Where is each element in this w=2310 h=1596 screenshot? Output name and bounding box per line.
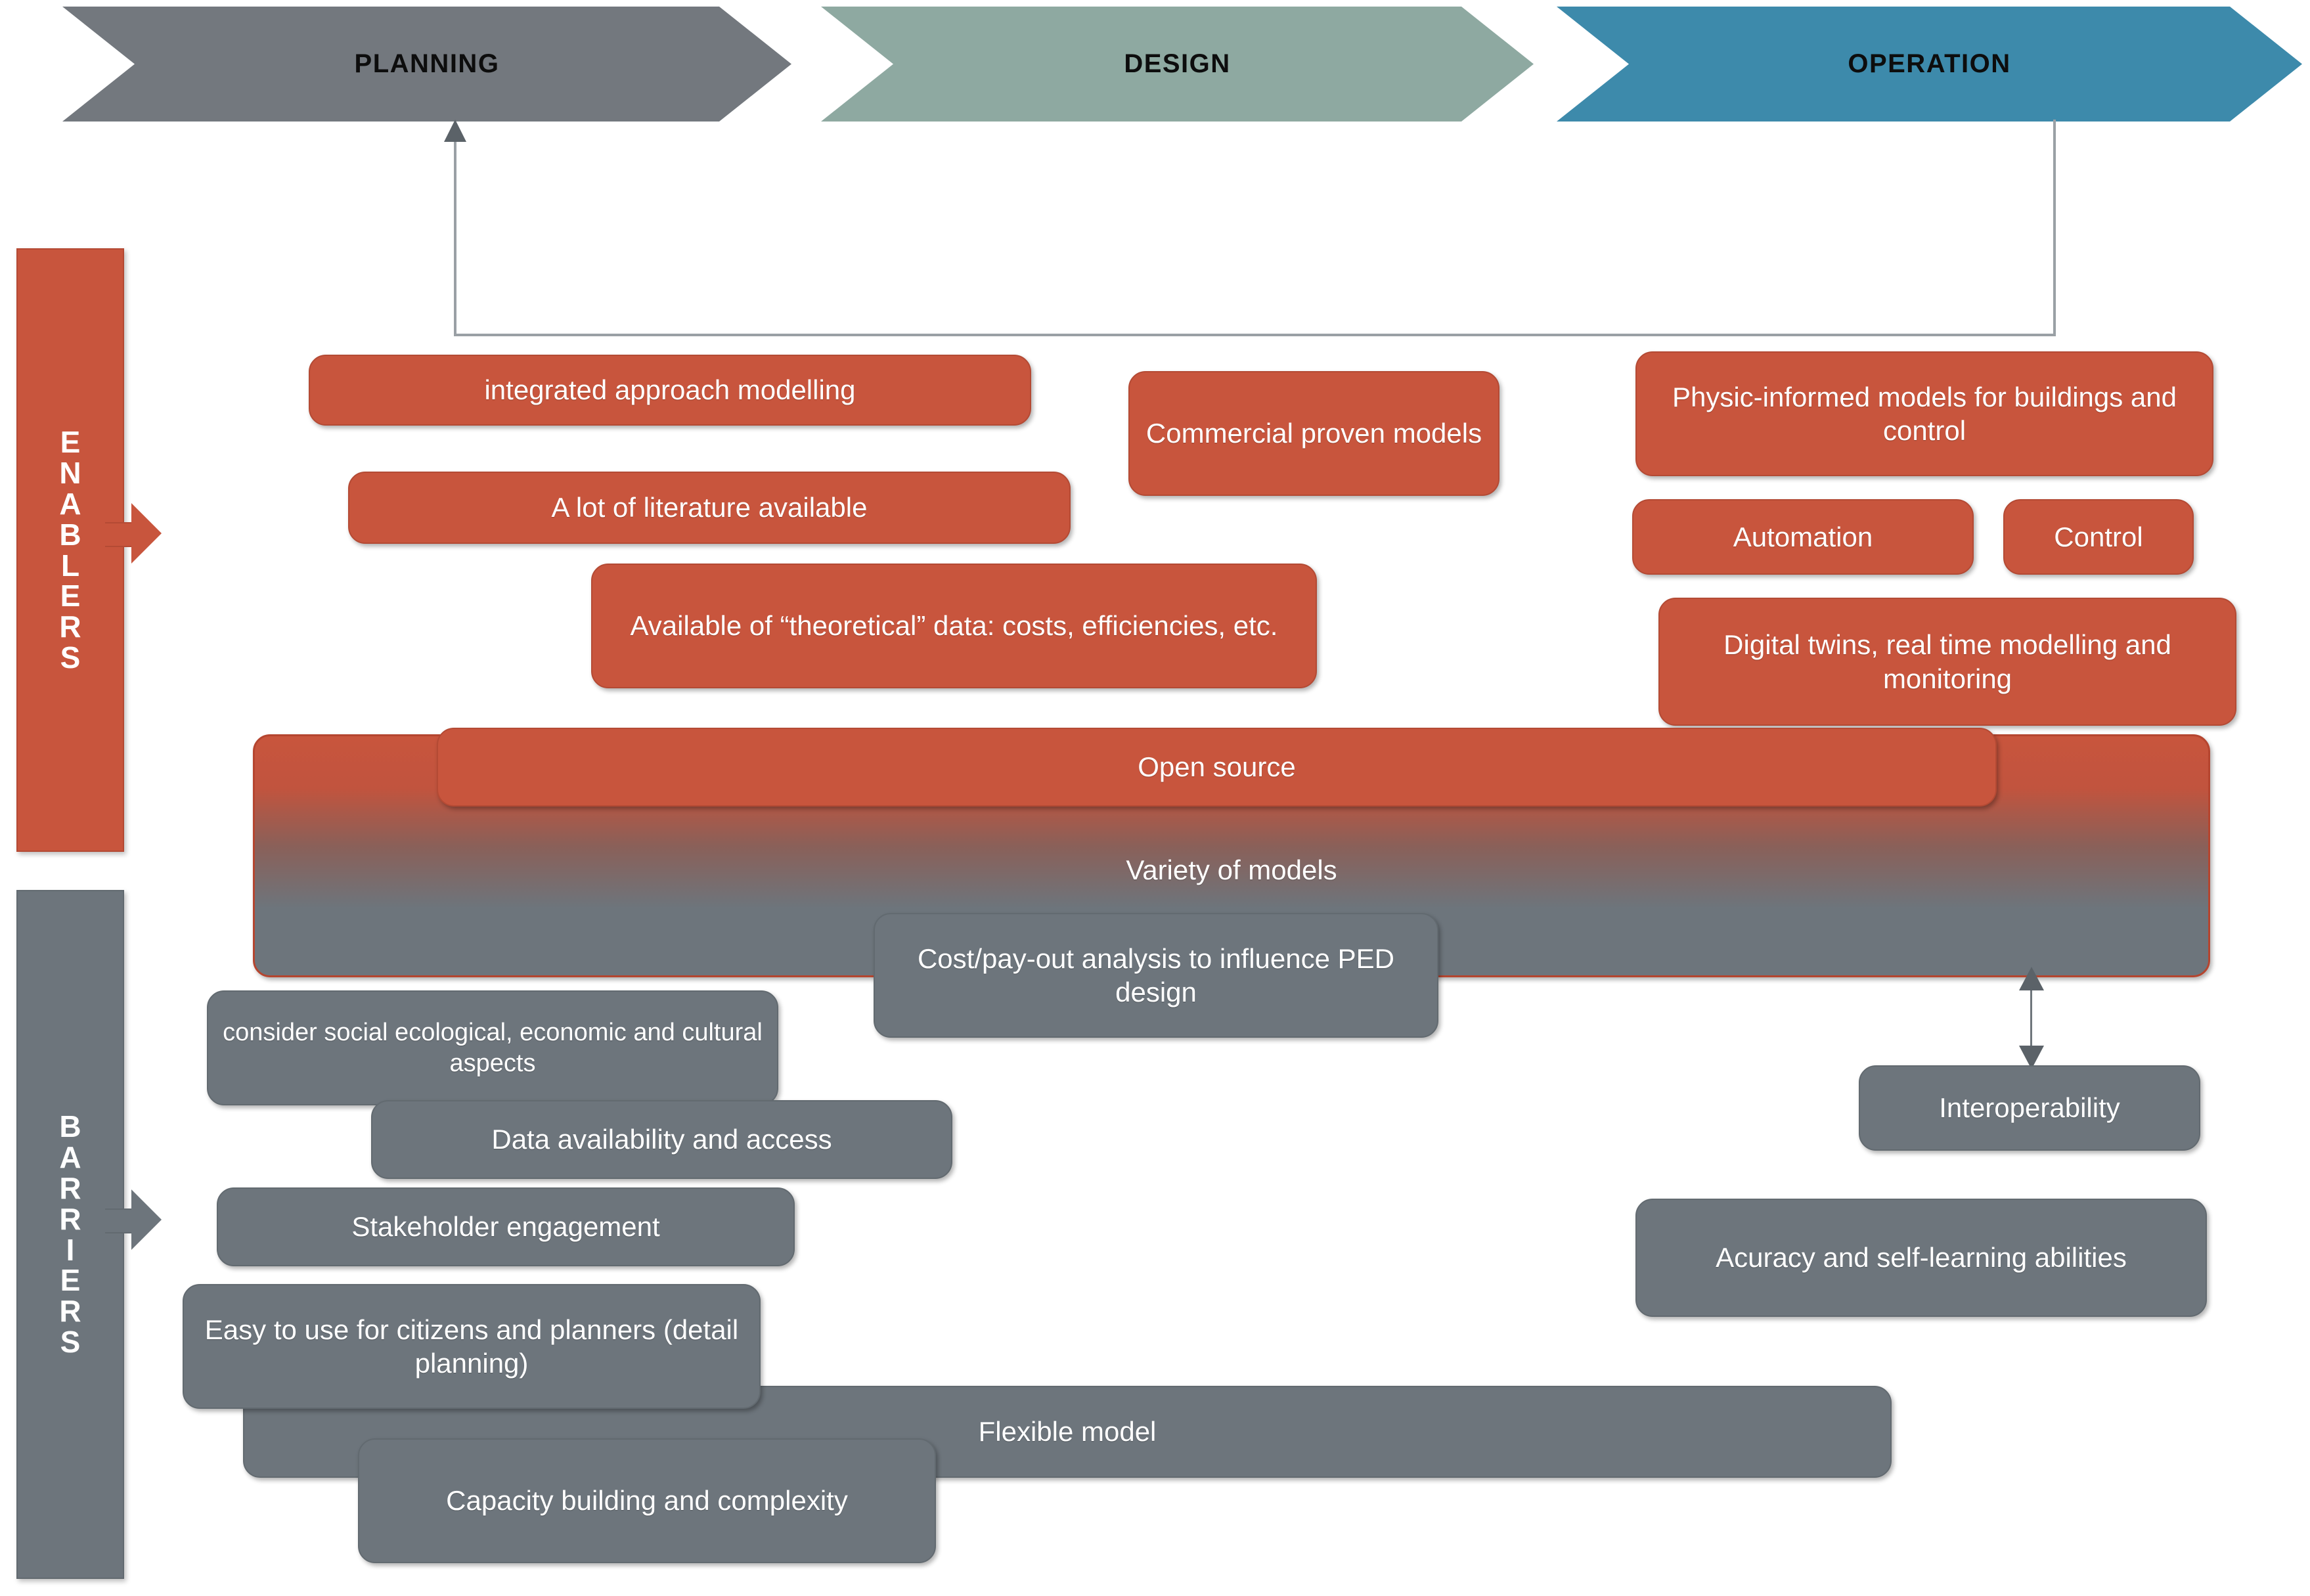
rail-barriers-letter-5: E	[60, 1265, 81, 1296]
enabler-node-automation[interactable]: Automation	[1632, 499, 1974, 575]
variety-interoperability-arrowhead-up-icon	[2019, 967, 2044, 990]
feedback-connector-left-leg	[454, 139, 456, 336]
rail-barriers-letter-7: S	[60, 1327, 81, 1358]
phase-chevron-planning[interactable]: PLANNING	[62, 7, 791, 122]
diagram-canvas: PLANNING DESIGN OPERATION E N A B L E R …	[0, 0, 2310, 1596]
rail-barriers-letter-6: R	[59, 1296, 81, 1327]
rail-enablers-letter-4: L	[61, 550, 79, 581]
rail-enablers-letter-3: B	[59, 520, 81, 550]
barrier-node-interoperability[interactable]: Interoperability	[1859, 1065, 2200, 1151]
barrier-node-easy-to-use[interactable]: Easy to use for citizens and planners (d…	[183, 1284, 761, 1409]
enabler-node-open-source[interactable]: Open source	[437, 728, 1997, 807]
barrier-node-stakeholder-engagement[interactable]: Stakeholder engagement	[217, 1187, 795, 1266]
enabler-node-a-lot-of-literature-available[interactable]: A lot of literature available	[348, 472, 1071, 544]
rail-barriers[interactable]: B A R R I E R S	[16, 890, 124, 1579]
rail-barriers-letter-3: R	[59, 1204, 81, 1235]
barrier-label-acuracy-self-learning: Acuracy and self-learning abilities	[1716, 1241, 2127, 1274]
phase-label-design: DESIGN	[1124, 49, 1230, 79]
rail-barriers-pointer-icon	[105, 1208, 134, 1233]
rail-barriers-letter-4: I	[66, 1235, 75, 1266]
phase-label-operation: OPERATION	[1848, 49, 2010, 79]
enabler-label-a-lot-of-literature-available: A lot of literature available	[552, 491, 868, 524]
rail-enablers-arrowhead-icon	[131, 503, 162, 564]
enabler-label-open-source: Open source	[1138, 750, 1295, 784]
enabler-node-digital-twins[interactable]: Digital twins, real time modelling and m…	[1658, 598, 2236, 726]
enabler-label-integrated-approach-modelling: integrated approach modelling	[484, 373, 855, 407]
barrier-label-consider-social-aspects: consider social ecological, economic and…	[220, 1017, 765, 1078]
shared-label-variety-of-models: Variety of models	[267, 799, 2196, 887]
rail-enablers-letter-0: E	[60, 427, 81, 458]
barrier-label-interoperability: Interoperability	[1939, 1091, 2120, 1124]
enabler-label-automation: Automation	[1733, 520, 1873, 554]
barrier-node-acuracy-self-learning[interactable]: Acuracy and self-learning abilities	[1635, 1199, 2207, 1317]
enabler-label-control: Control	[2054, 520, 2143, 554]
barrier-label-cost-pay-out-analysis: Cost/pay-out analysis to influence PED d…	[887, 942, 1425, 1009]
barrier-node-data-availability[interactable]: Data availability and access	[371, 1100, 952, 1179]
barrier-label-stakeholder-engagement: Stakeholder engagement	[351, 1210, 659, 1243]
rail-enablers-letter-5: E	[60, 581, 81, 611]
barrier-node-cost-pay-out-analysis[interactable]: Cost/pay-out analysis to influence PED d…	[874, 913, 1438, 1038]
rail-enablers-letter-2: A	[59, 489, 81, 520]
rail-barriers-letter-1: A	[59, 1142, 81, 1173]
enabler-label-physic-informed-models: Physic-informed models for buildings and…	[1649, 380, 2200, 447]
enabler-node-control[interactable]: Control	[2003, 499, 2194, 575]
enabler-label-digital-twins: Digital twins, real time modelling and m…	[1672, 628, 2223, 695]
barrier-label-easy-to-use: Easy to use for citizens and planners (d…	[196, 1313, 747, 1380]
barrier-node-capacity-building[interactable]: Capacity building and complexity	[358, 1438, 936, 1563]
barrier-label-capacity-building: Capacity building and complexity	[446, 1484, 848, 1517]
enabler-node-available-theoretical-data[interactable]: Available of “theoretical” data: costs, …	[591, 564, 1317, 688]
rail-enablers-letter-6: R	[59, 611, 81, 642]
rail-enablers-letters: E N A B L E R S	[59, 427, 81, 673]
rail-enablers[interactable]: E N A B L E R S	[16, 248, 124, 852]
barrier-node-consider-social-aspects[interactable]: consider social ecological, economic and…	[207, 990, 778, 1105]
feedback-connector-right-leg	[2053, 120, 2056, 336]
enabler-node-physic-informed-models[interactable]: Physic-informed models for buildings and…	[1635, 351, 2213, 476]
phase-label-planning: PLANNING	[355, 49, 500, 79]
enabler-label-commercial-proven-models: Commercial proven models	[1146, 416, 1482, 450]
rail-barriers-arrowhead-icon	[131, 1189, 162, 1250]
rail-enablers-pointer-icon	[105, 522, 134, 547]
enabler-node-commercial-proven-models[interactable]: Commercial proven models	[1128, 371, 1499, 496]
rail-barriers-letter-0: B	[59, 1111, 81, 1142]
enabler-label-available-theoretical-data: Available of “theoretical” data: costs, …	[631, 609, 1278, 642]
rail-enablers-letter-1: N	[59, 458, 81, 489]
phase-chevron-design[interactable]: DESIGN	[821, 7, 1534, 122]
feedback-connector-bottom-leg	[454, 334, 2056, 336]
feedback-connector-arrowhead-icon	[444, 120, 466, 142]
barrier-label-flexible-model: Flexible model	[979, 1415, 1157, 1448]
rail-enablers-letter-7: S	[60, 642, 81, 673]
phase-chevron-operation[interactable]: OPERATION	[1557, 7, 2302, 122]
barrier-label-data-availability: Data availability and access	[491, 1122, 832, 1156]
enabler-node-integrated-approach-modelling[interactable]: integrated approach modelling	[309, 355, 1031, 426]
rail-barriers-letter-2: R	[59, 1173, 81, 1204]
rail-barriers-letters: B A R R I E R S	[59, 1111, 81, 1358]
